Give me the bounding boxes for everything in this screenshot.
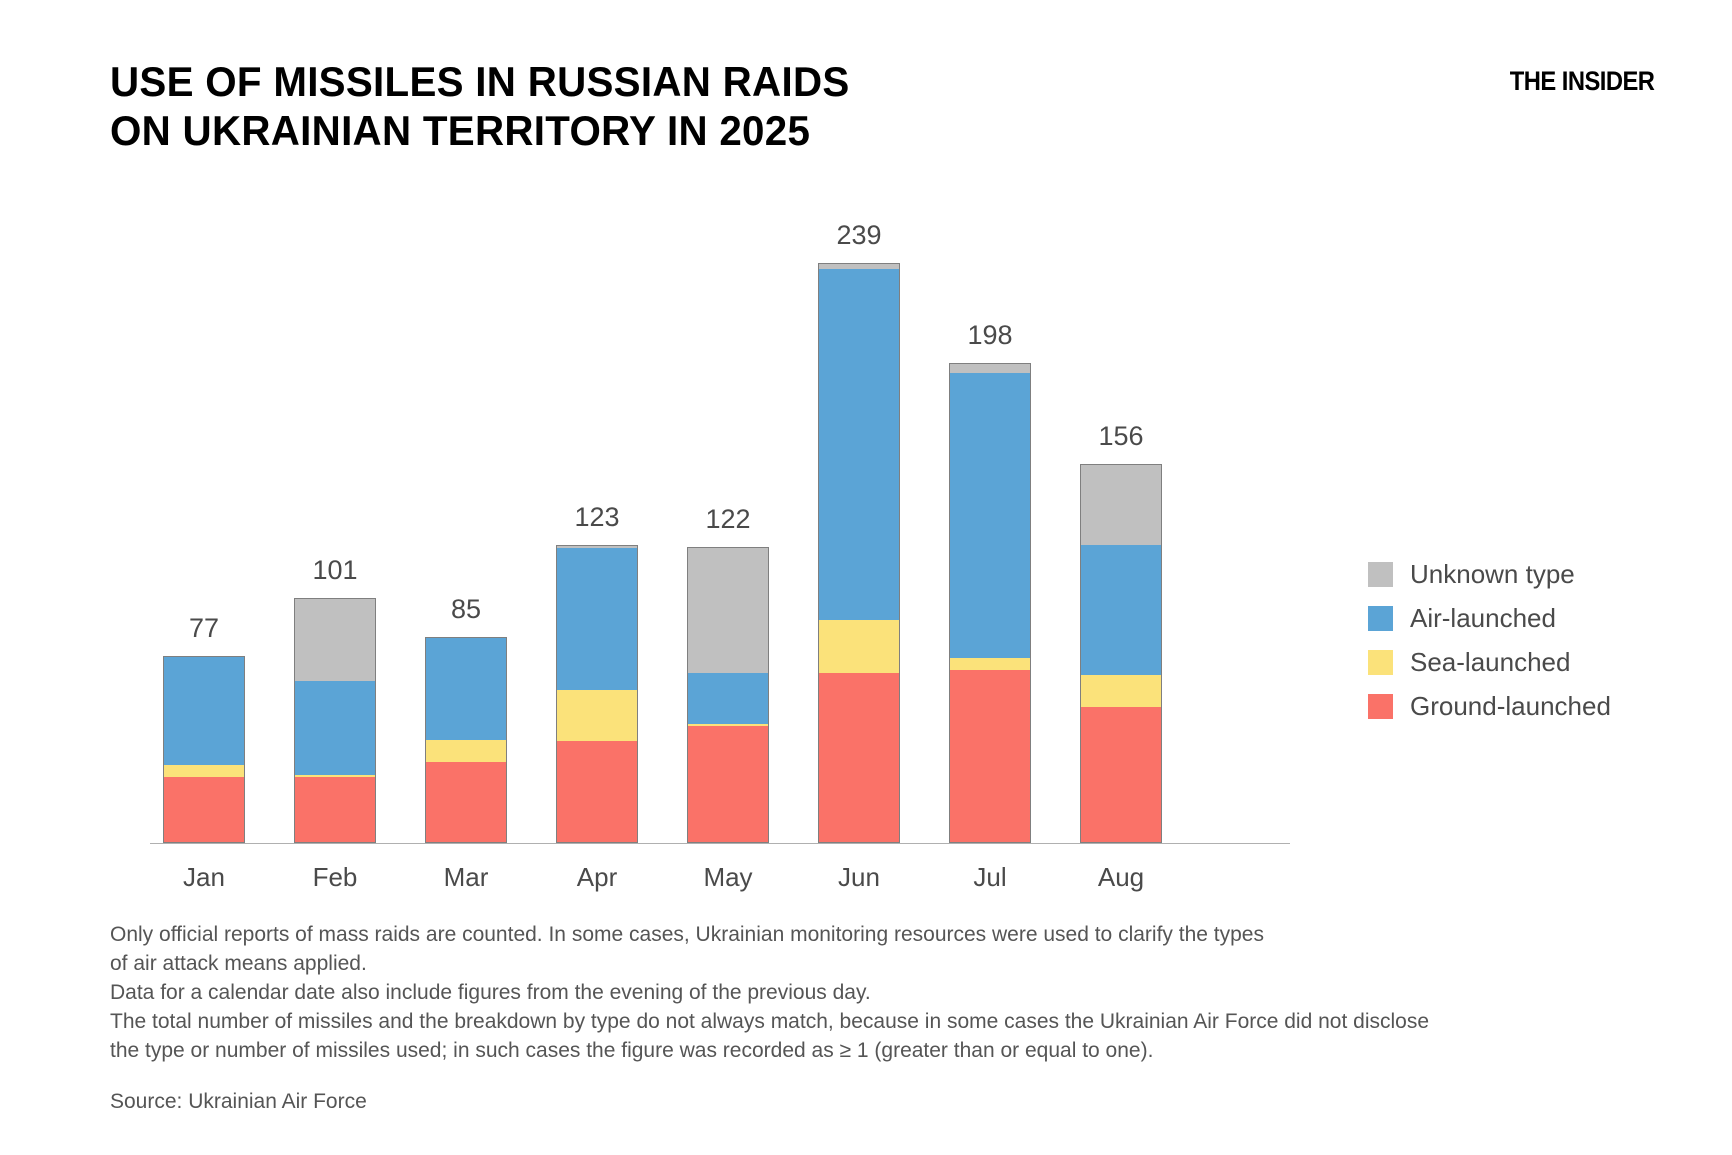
legend: Unknown typeAir-launchedSea-launchedGrou… — [1368, 552, 1611, 728]
legend-item[interactable]: Unknown type — [1368, 552, 1611, 596]
legend-item-label: Sea-launched — [1410, 647, 1570, 678]
legend-item[interactable]: Air-launched — [1368, 596, 1611, 640]
x-tick-label: Jul — [919, 862, 1061, 893]
chart: 7710185123122239198156 JanFebMarAprMayJu… — [0, 0, 1732, 940]
x-tick-label: Jan — [133, 862, 275, 893]
bar-segment[interactable] — [295, 599, 375, 681]
stacked-bar[interactable] — [687, 547, 769, 843]
legend-swatch-icon — [1368, 650, 1393, 675]
bar-segment[interactable] — [819, 673, 899, 842]
bar-total-label: 123 — [526, 502, 668, 533]
legend-item-label: Ground-launched — [1410, 691, 1611, 722]
bar-total-label: 77 — [133, 613, 275, 644]
plot-area: 7710185123122239198156 — [150, 200, 1290, 843]
bar-segment[interactable] — [1081, 465, 1161, 545]
bar-segment[interactable] — [557, 548, 637, 690]
stacked-bar[interactable] — [818, 263, 900, 843]
legend-item[interactable]: Sea-launched — [1368, 640, 1611, 684]
legend-item-label: Air-launched — [1410, 603, 1556, 634]
bar-segment[interactable] — [950, 658, 1030, 670]
bar-segment[interactable] — [426, 762, 506, 842]
bar-segment[interactable] — [1081, 545, 1161, 675]
bar-segment[interactable] — [950, 373, 1030, 658]
x-tick-label: Feb — [264, 862, 406, 893]
bar-segment[interactable] — [1081, 675, 1161, 706]
bar-segment[interactable] — [688, 548, 768, 673]
x-tick-label: Apr — [526, 862, 668, 893]
bar-segment[interactable] — [164, 777, 244, 842]
footnotes: Only official reports of mass raids are … — [110, 920, 1630, 1116]
footnote-line: Data for a calendar date also include fi… — [110, 978, 1630, 1007]
stacked-bar[interactable] — [1080, 464, 1162, 843]
bar-total-label: 85 — [395, 594, 537, 625]
bar-segment[interactable] — [426, 638, 506, 740]
legend-swatch-icon — [1368, 606, 1393, 631]
bar-total-label: 122 — [657, 504, 799, 535]
x-tick-label: Jun — [788, 862, 930, 893]
bar-segment[interactable] — [164, 765, 244, 777]
x-tick-label: Mar — [395, 862, 537, 893]
x-tick-label: May — [657, 862, 799, 893]
bar-segment[interactable] — [950, 364, 1030, 374]
bar-total-label: 156 — [1050, 421, 1192, 452]
bar-segment[interactable] — [1081, 707, 1161, 842]
bar-segment[interactable] — [688, 726, 768, 842]
bar-segment[interactable] — [688, 673, 768, 724]
x-tick-label: Aug — [1050, 862, 1192, 893]
source-note: Source: Ukrainian Air Force — [110, 1087, 1630, 1116]
bar-total-label: 198 — [919, 320, 1061, 351]
bar-segment[interactable] — [426, 740, 506, 762]
legend-swatch-icon — [1368, 562, 1393, 587]
bar-segment[interactable] — [164, 657, 244, 765]
bar-segment[interactable] — [557, 690, 637, 741]
bar-segment[interactable] — [819, 620, 899, 673]
bar-segment[interactable] — [557, 741, 637, 842]
footnote-line: Only official reports of mass raids are … — [110, 920, 1630, 978]
bar-total-label: 239 — [788, 220, 930, 251]
bar-segment[interactable] — [295, 681, 375, 775]
bar-segment[interactable] — [819, 269, 899, 620]
legend-swatch-icon — [1368, 694, 1393, 719]
legend-item-label: Unknown type — [1410, 559, 1575, 590]
x-axis-line — [150, 843, 1290, 844]
stacked-bar[interactable] — [425, 637, 507, 843]
stacked-bar[interactable] — [294, 598, 376, 843]
stacked-bar[interactable] — [949, 363, 1031, 843]
legend-item[interactable]: Ground-launched — [1368, 684, 1611, 728]
bar-segment[interactable] — [295, 777, 375, 842]
stacked-bar[interactable] — [163, 656, 245, 843]
stacked-bar[interactable] — [556, 545, 638, 843]
footnote-line: The total number of missiles and the bre… — [110, 1007, 1630, 1065]
bar-total-label: 101 — [264, 555, 406, 586]
bar-segment[interactable] — [950, 670, 1030, 842]
